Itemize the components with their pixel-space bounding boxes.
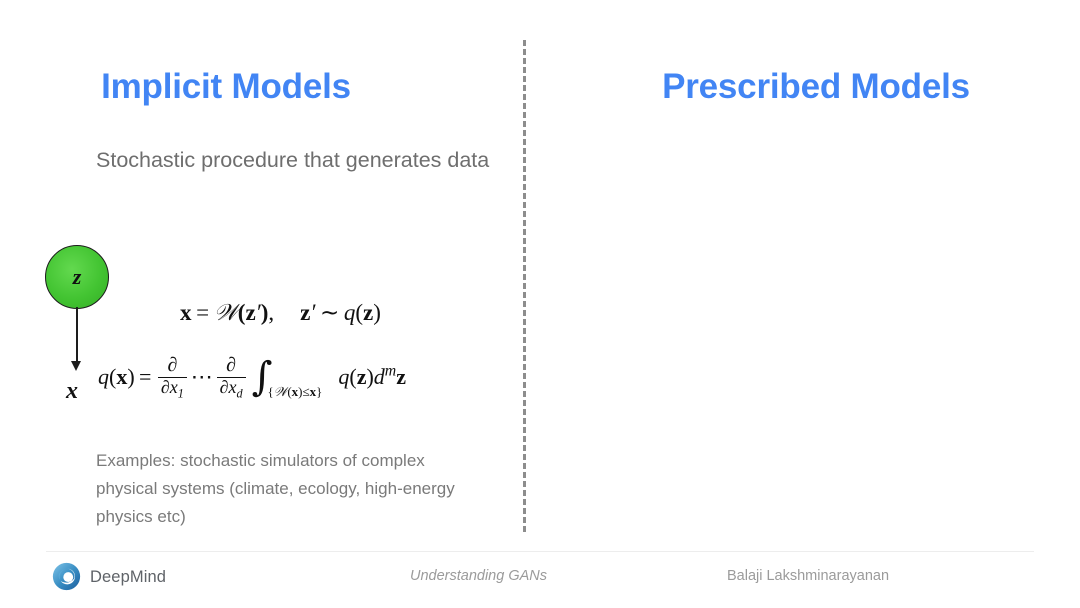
right-column-title: Prescribed Models [538,67,1080,107]
left-observed-node-x: x [66,378,78,405]
left-equation-1: x = 𝒲(z′),z′ ∼ q(z) [180,300,381,326]
left-column-description: Stochastic procedure that generates data [96,144,496,177]
left-column-title: Implicit Models [0,67,488,107]
deepmind-wordmark: DeepMind [90,568,166,587]
left-latent-node-label: z [73,264,82,290]
footer-talk-title: Understanding GANs [410,568,547,584]
slide-root: Implicit Models Stochastic procedure tha… [0,0,1080,608]
footer-author: Balaji Lakshminarayanan [727,568,889,584]
left-column: Implicit Models Stochastic procedure tha… [0,0,524,608]
deepmind-spiral-logo [52,562,81,591]
left-latent-node-z: z [45,245,109,309]
right-column: Prescribed Models Provide knowledge of t… [524,0,1080,608]
footer-divider [46,551,1034,552]
left-examples-text: Examples: stochastic simulators of compl… [96,447,476,531]
arrow-shaft [76,307,78,365]
arrow-head [71,361,81,371]
left-equation-2: q(x) = ∂∂x1 ⋯ ∂∂xd∫{𝒲(x)≤x}q(z)dmz [98,356,406,402]
